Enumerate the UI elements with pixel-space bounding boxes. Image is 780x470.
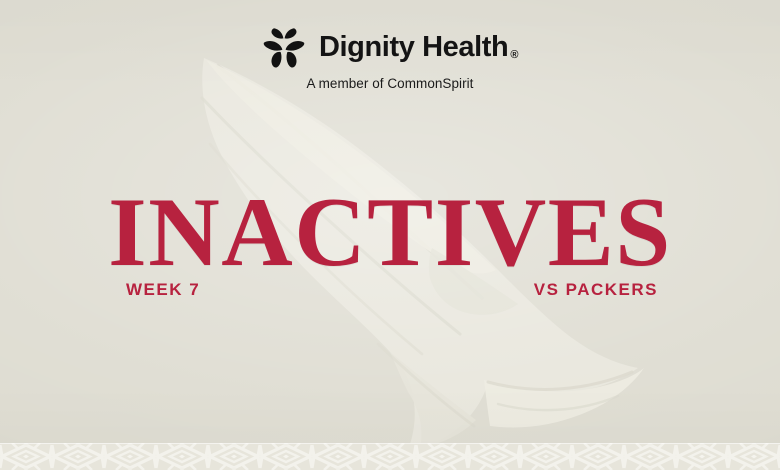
band-divider bbox=[0, 443, 780, 444]
registered-trademark-symbol: ® bbox=[510, 50, 518, 61]
brand-row: Dignity Health® bbox=[262, 27, 518, 68]
inactives-graphic: Dignity Health® A member of CommonSpirit… bbox=[0, 0, 780, 470]
brand-wordmark: Dignity Health® bbox=[319, 33, 518, 62]
brand-tagline: A member of CommonSpirit bbox=[306, 77, 473, 91]
dignity-health-lockup: Dignity Health® A member of CommonSpirit bbox=[0, 27, 780, 91]
dignity-health-flower-icon bbox=[262, 27, 306, 68]
southwestern-diamond-pattern bbox=[0, 443, 780, 470]
opponent-label: VS PACKERS bbox=[534, 281, 658, 298]
week-label: WEEK 7 bbox=[126, 281, 200, 298]
brand-wordmark-text: Dignity Health bbox=[319, 33, 508, 62]
page-title: INACTIVES bbox=[0, 183, 780, 282]
